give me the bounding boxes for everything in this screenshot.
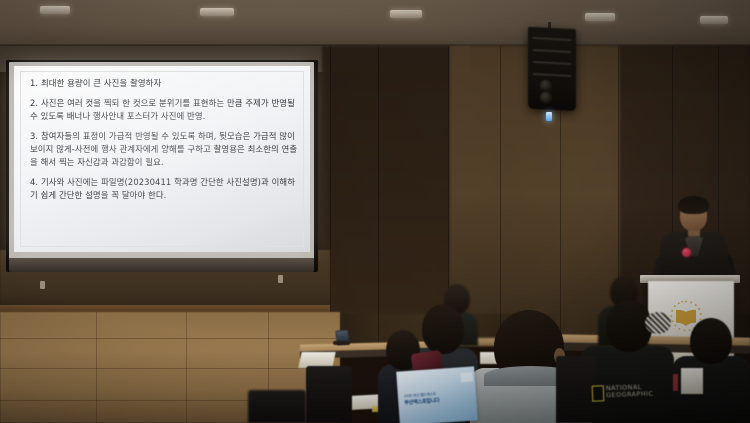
blue-bag-main-text: 부산엑스포입니다 (404, 398, 440, 406)
red-marker-strip (673, 374, 678, 391)
ceiling-speaker (528, 27, 576, 112)
speaker-cone-icon (540, 91, 552, 104)
floor-seam (186, 312, 187, 423)
presenter-hair (678, 196, 709, 214)
white-card-on-desk (681, 368, 703, 394)
ceiling (0, 0, 750, 46)
chair-back (306, 366, 352, 423)
slide-content: 1. 최대한 용량이 큰 사진을 촬영하자 2. 사진은 여러 컷을 찍되 한 … (30, 77, 298, 209)
wall-panel-dark (322, 46, 450, 314)
audience-head (422, 304, 464, 354)
blue-bag-label: 2030 부산 월드엑스포 부산엑스포입니다 (404, 389, 469, 407)
floor-seam (0, 368, 330, 369)
chair-back (248, 390, 306, 423)
slide-paragraph-3: 3. 참여자들의 표정이 가급적 반영될 수 있도록 하며, 뒷모습은 가급적 … (30, 130, 298, 170)
ceiling-light (40, 6, 70, 14)
speaker-cone-icon (540, 79, 552, 92)
slide-paragraph-1: 1. 최대한 용량이 큰 사진을 촬영하자 (30, 77, 298, 90)
national-geographic-logo-icon (592, 385, 605, 401)
floor-seam (0, 338, 336, 339)
wall-seam (330, 46, 331, 346)
wall-seam (500, 46, 501, 346)
blue-tote-bag: 2030 부산 월드엑스포 부산엑스포입니다 (396, 366, 478, 423)
hair-scrunchie (645, 312, 671, 334)
ceiling-light (200, 8, 234, 16)
slide-paragraph-4: 4. 기사와 사진에는 파일명(20230411 학과명 간단한 사진설명)과 … (30, 176, 298, 202)
screen-bottom-bar (9, 258, 314, 272)
ceiling-light (585, 13, 615, 21)
wall-seam (378, 46, 379, 346)
lecture-hall-photo: 1. 최대한 용량이 큰 사진을 촬영하자 2. 사진은 여러 컷을 찍되 한 … (0, 0, 750, 423)
bag-tag (460, 372, 473, 382)
speaker-status-led (546, 112, 552, 121)
slide-paragraph-2: 2. 사진은 여러 컷을 찍되 한 컷으로 분위기를 표현하는 만큼 주제가 반… (30, 97, 298, 123)
audience-head (690, 318, 732, 364)
smartphone-stand-base (333, 341, 350, 345)
wall-outlet (278, 275, 283, 283)
presenter-badge (682, 248, 691, 257)
chair-back (556, 356, 596, 423)
projection-screen: 1. 최대한 용량이 큰 사진을 촬영하자 2. 사진은 여러 컷을 찍되 한 … (14, 66, 310, 252)
ceiling-light (390, 10, 422, 18)
ceiling-light (700, 16, 728, 24)
wall-outlet (40, 281, 45, 289)
floor-seam (96, 312, 97, 423)
